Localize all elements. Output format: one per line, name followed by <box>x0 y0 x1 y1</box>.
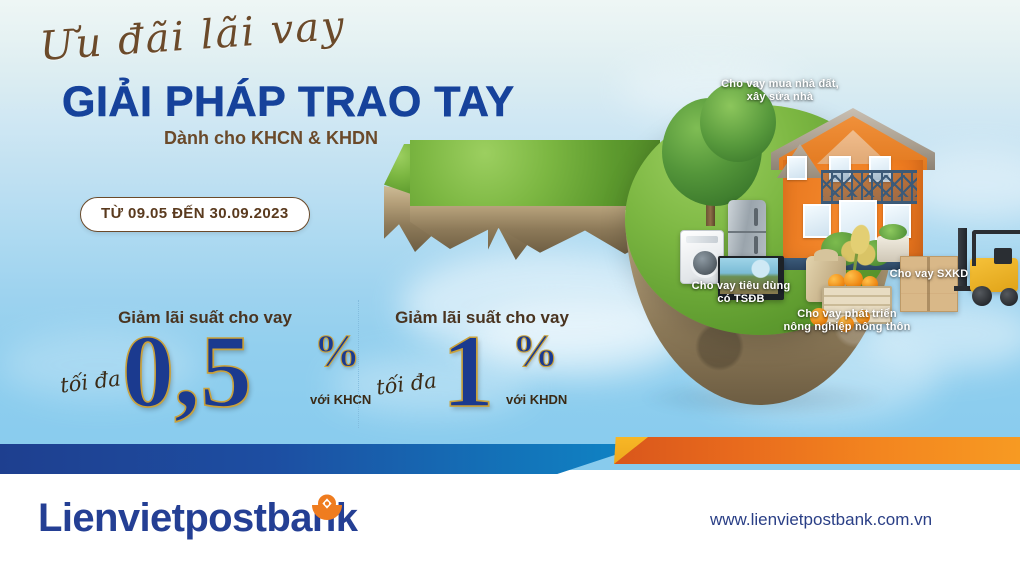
rate-unit: % <box>314 328 360 374</box>
callout-business-loan: Cho vay SXKD <box>874 268 984 281</box>
rate-block-khdn: Giảm lãi suất cho vay tối đa 1 % với KHD… <box>372 308 592 416</box>
house-balcony <box>821 170 917 204</box>
promotional-banner: Cho vay mua nhà đất, xây sửa nhà Cho vay… <box>0 0 1020 574</box>
page-title: GIẢI PHÁP TRAO TAY <box>62 78 515 127</box>
rate-prefix: tối đa <box>59 366 122 397</box>
callout-home-loan: Cho vay mua nhà đất, xây sửa nhà <box>700 78 860 104</box>
island-grass <box>410 140 660 206</box>
promo-period-text: TỪ 09.05 ĐẾN 30.09.2023 <box>101 205 289 222</box>
promo-period-badge: TỪ 09.05 ĐẾN 30.09.2023 <box>80 197 310 232</box>
rate-audience: với KHCN <box>310 392 371 407</box>
rate-unit: % <box>512 328 558 374</box>
house-window <box>787 156 807 180</box>
rate-audience: với KHDN <box>506 392 567 407</box>
rate-divider <box>358 300 359 428</box>
rate-value: 0,5 <box>122 330 252 414</box>
house-window <box>803 204 831 238</box>
forklift-wheel <box>1000 288 1018 306</box>
rate-prefix: tối đa <box>375 368 438 399</box>
footer: Lienvietpostbank www.lienvietpostbank.co… <box>0 474 1020 574</box>
callout-consumer-loan: Cho vay tiêu dùng có TSĐB <box>676 280 806 306</box>
rate-block-khcn: Giảm lãi suất cho vay tối đa 0,5 % với K… <box>60 308 350 416</box>
cardboard-boxes-icon <box>900 256 958 312</box>
forklift-wheel <box>972 286 992 306</box>
page-subtitle: Dành cho KHCN & KHDN <box>164 128 378 149</box>
brand-logo[interactable]: Lienvietpostbank <box>38 496 357 541</box>
decorative-band-blue <box>0 444 648 474</box>
rate-value: 1 <box>442 330 494 414</box>
forklift-seat <box>994 248 1012 264</box>
website-url[interactable]: www.lienvietpostbank.com.vn <box>710 510 932 530</box>
callout-agriculture-loan: Cho vay phát triển nông nghiệp nông thôn <box>762 308 932 334</box>
decorative-band-orange <box>614 437 1020 464</box>
postbank-horn-icon <box>310 494 344 528</box>
rate-row: tối đa 0,5 % với KHCN <box>60 332 350 416</box>
rate-row: tối đa 1 % với KHDN <box>372 332 592 416</box>
